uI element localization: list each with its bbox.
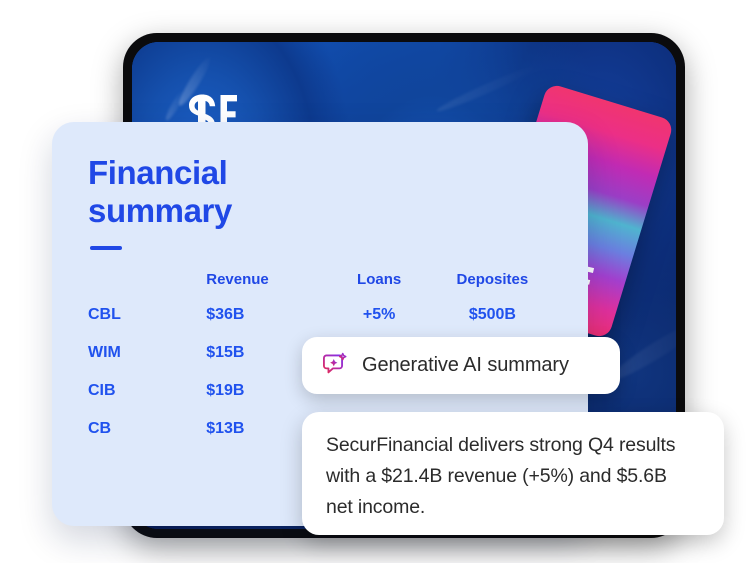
generative-ai-summary-label: Generative AI summary [362,354,569,377]
table-row: CBL $36B +5% $500B [82,296,552,334]
title-divider [90,246,122,250]
ai-summary-text: SecurFinancial delivers strong Q4 result… [326,430,698,523]
cell-deposites: $500B [433,306,552,324]
cell-loans: +5% [325,306,432,324]
page-title-line-2: summary [88,192,232,230]
cell-name: CB [82,420,206,438]
column-header-deposites: Deposites [433,271,552,288]
column-header-revenue: Revenue [206,271,325,288]
cell-name: CIB [82,382,206,400]
chat-sparkle-icon [322,352,349,379]
table-header-row: Revenue Loans Deposites [82,262,552,296]
cell-revenue: $36B [206,306,325,324]
generative-ai-summary-chip[interactable]: Generative AI summary [302,337,620,394]
page-title: Financial summary [88,154,232,230]
column-header-loans: Loans [325,271,432,288]
page-title-line-1: Financial [88,154,232,192]
cell-name: WIM [82,344,206,362]
cell-name: CBL [82,306,206,324]
ai-summary-card: SecurFinancial delivers strong Q4 result… [302,412,724,535]
screenshot-root: Financial summary Revenue Loans Deposite… [0,0,750,563]
balloon-highlight [435,62,539,115]
